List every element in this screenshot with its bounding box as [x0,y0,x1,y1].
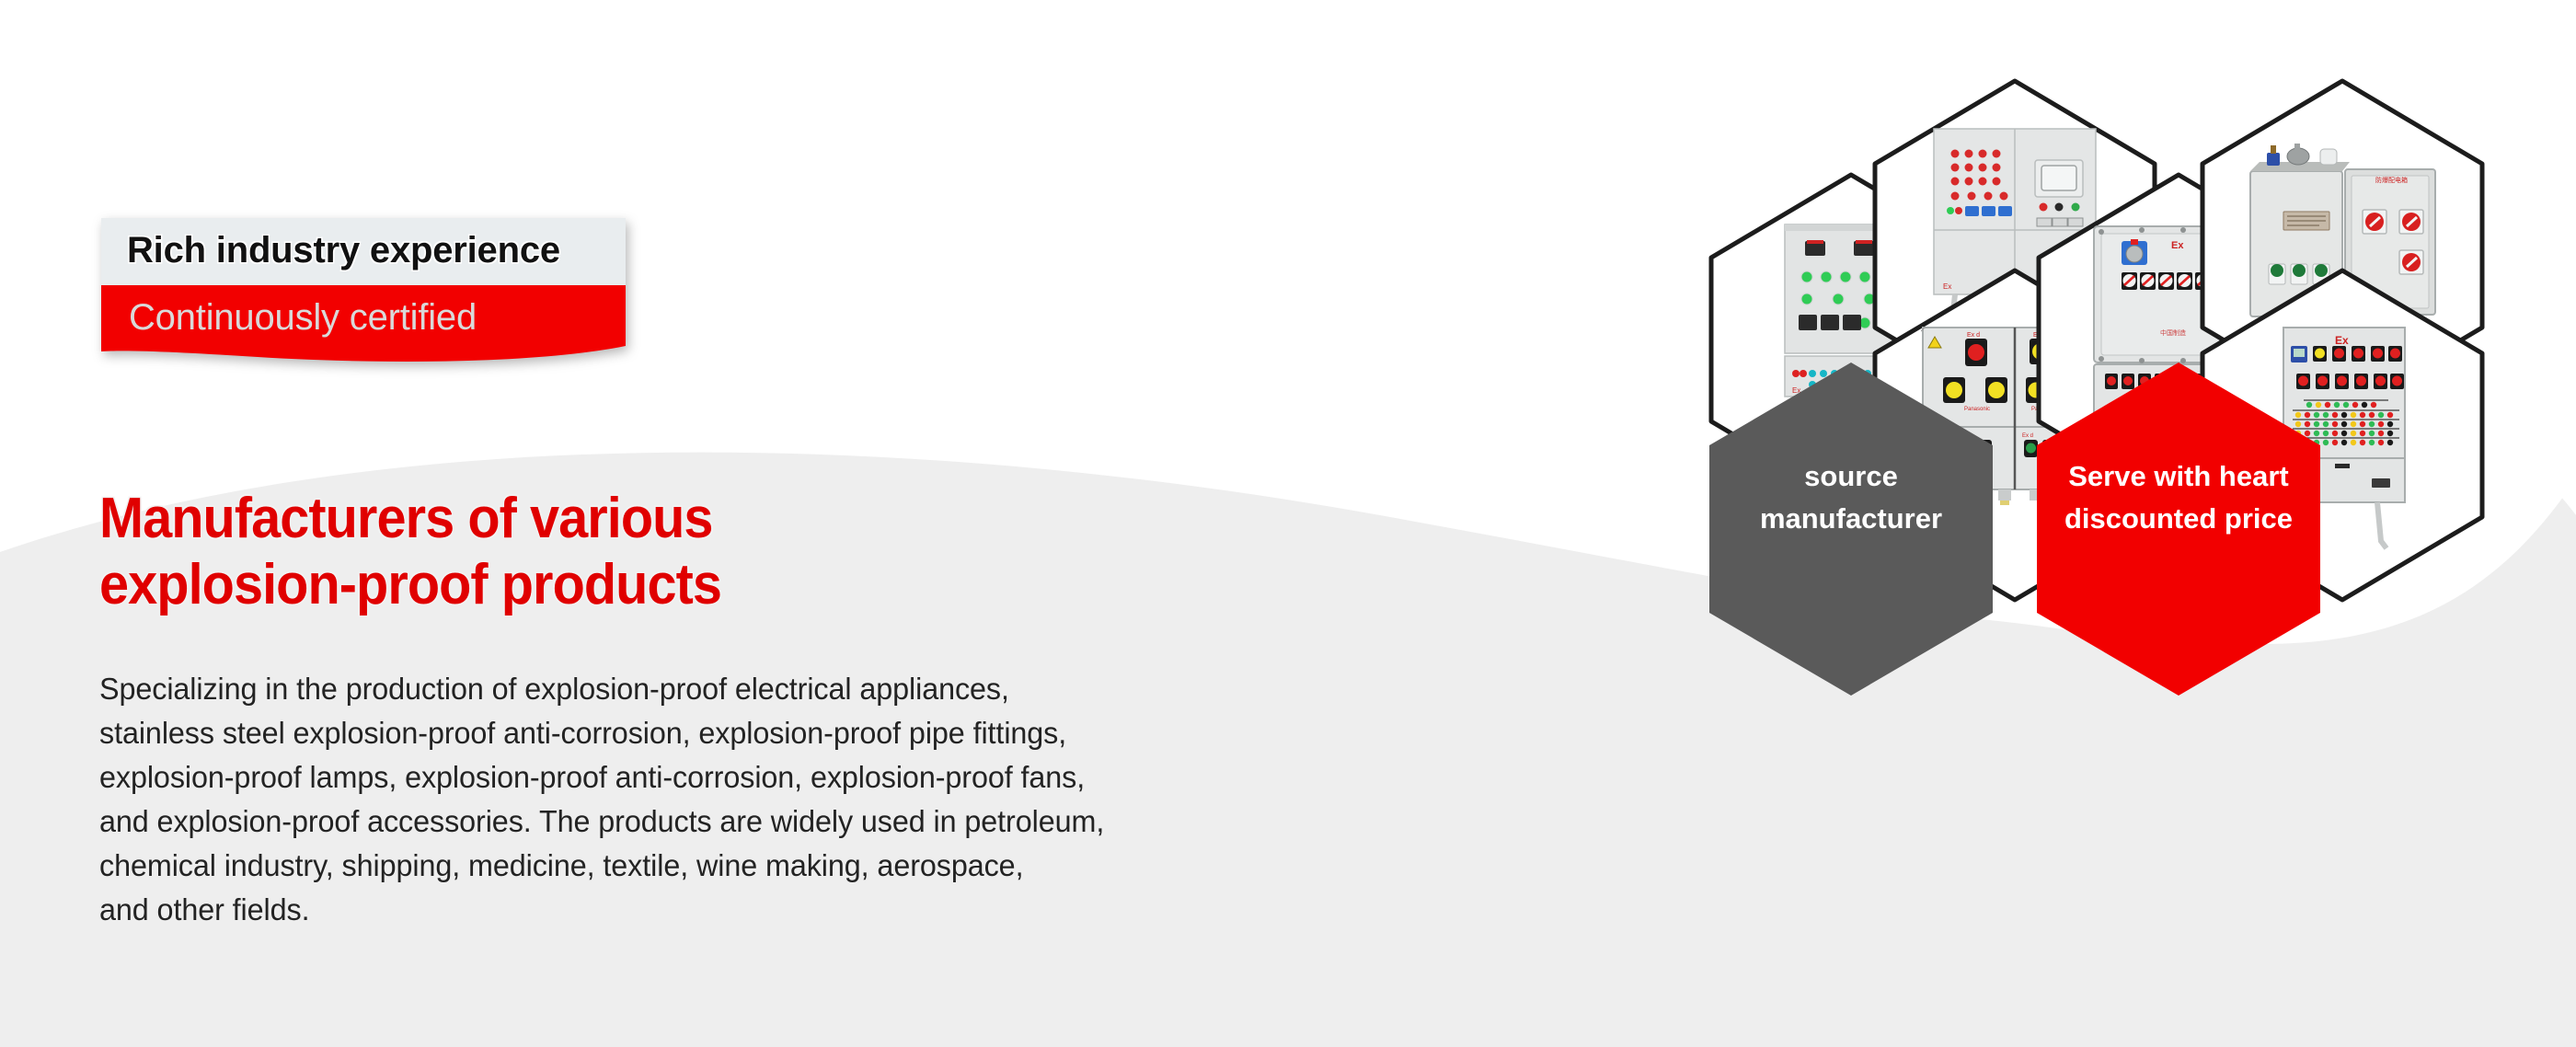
hex-label-source[interactable]: source manufacturer [1704,359,1998,699]
headline-line-1: Manufacturers of various [99,486,1058,552]
hexagon-filled-red [2031,359,2326,699]
description-line: and other fields. [99,888,1380,932]
hex-label-service[interactable]: Serve with heart discounted price [2031,359,2326,699]
badge-bottom-label: Continuously certified [129,297,477,339]
description-paragraph: Specializing in the production of explos… [99,667,1406,932]
hexagon-filled-gray [1704,359,1998,699]
badge-bottom-bar: Continuously certified [101,285,626,364]
description-line: chemical industry, shipping, medicine, t… [99,844,1380,888]
credential-badge: Rich industry experience Continuously ce… [101,218,626,364]
description-line: stainless steel explosion-proof anti-cor… [99,711,1380,755]
badge-top-bar: Rich industry experience [101,218,626,285]
headline-line-2: explosion-proof products [99,552,1058,618]
badge-top-label: Rich industry experience [127,230,600,271]
description-line: and explosion-proof accessories. The pro… [99,800,1380,844]
page-title: Manufacturers of various explosion-proof… [99,486,1130,618]
description-line: explosion-proof lamps, explosion-proof a… [99,755,1380,800]
promo-banner: Rich industry experience Continuously ce… [0,0,2576,1047]
description-line: Specializing in the production of explos… [99,667,1380,711]
banner-left-content: Rich industry experience Continuously ce… [0,0,1380,1047]
product-honeycomb: Ex [1380,0,2576,1047]
